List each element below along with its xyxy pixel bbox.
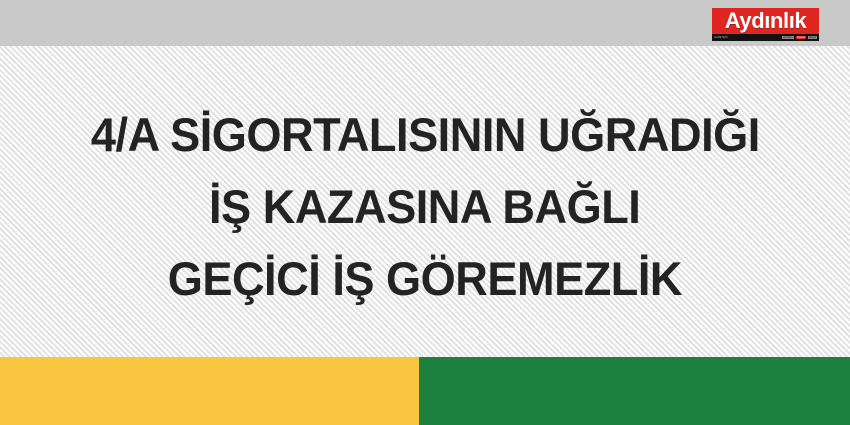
logo-strip-left-text: GAZETESİ	[714, 36, 728, 39]
headline-block: 4/A SİGORTALISININ UĞRADIĞI İŞ KAZASINA …	[0, 46, 850, 357]
footer-bar-green	[419, 357, 850, 425]
logo-chip-dunya: dunya	[808, 36, 817, 39]
logo-chip-gundem: gundem	[782, 36, 793, 39]
logo-chip-siyaset: siyaset	[796, 36, 806, 39]
aydinlik-logo[interactable]: Aydınlık GAZETESİ gundem siyaset dunya	[712, 8, 819, 41]
footer-color-bar	[0, 357, 850, 425]
news-graphic-canvas: Aydınlık GAZETESİ gundem siyaset dunya 4…	[0, 0, 850, 425]
logo-wordmark: Aydınlık	[725, 8, 807, 34]
logo-bottom-strip: GAZETESİ gundem siyaset dunya	[712, 34, 819, 41]
footer-bar-yellow	[0, 357, 419, 425]
headline-line-2: İŞ KAZASINA BAĞLI	[209, 171, 640, 243]
headline-line-3: GEÇİCİ İŞ GÖREMEZLİK	[168, 243, 682, 315]
headline-line-1: 4/A SİGORTALISININ UĞRADIĞI	[91, 99, 760, 171]
logo-strip-chips: gundem siyaset dunya	[782, 36, 817, 39]
